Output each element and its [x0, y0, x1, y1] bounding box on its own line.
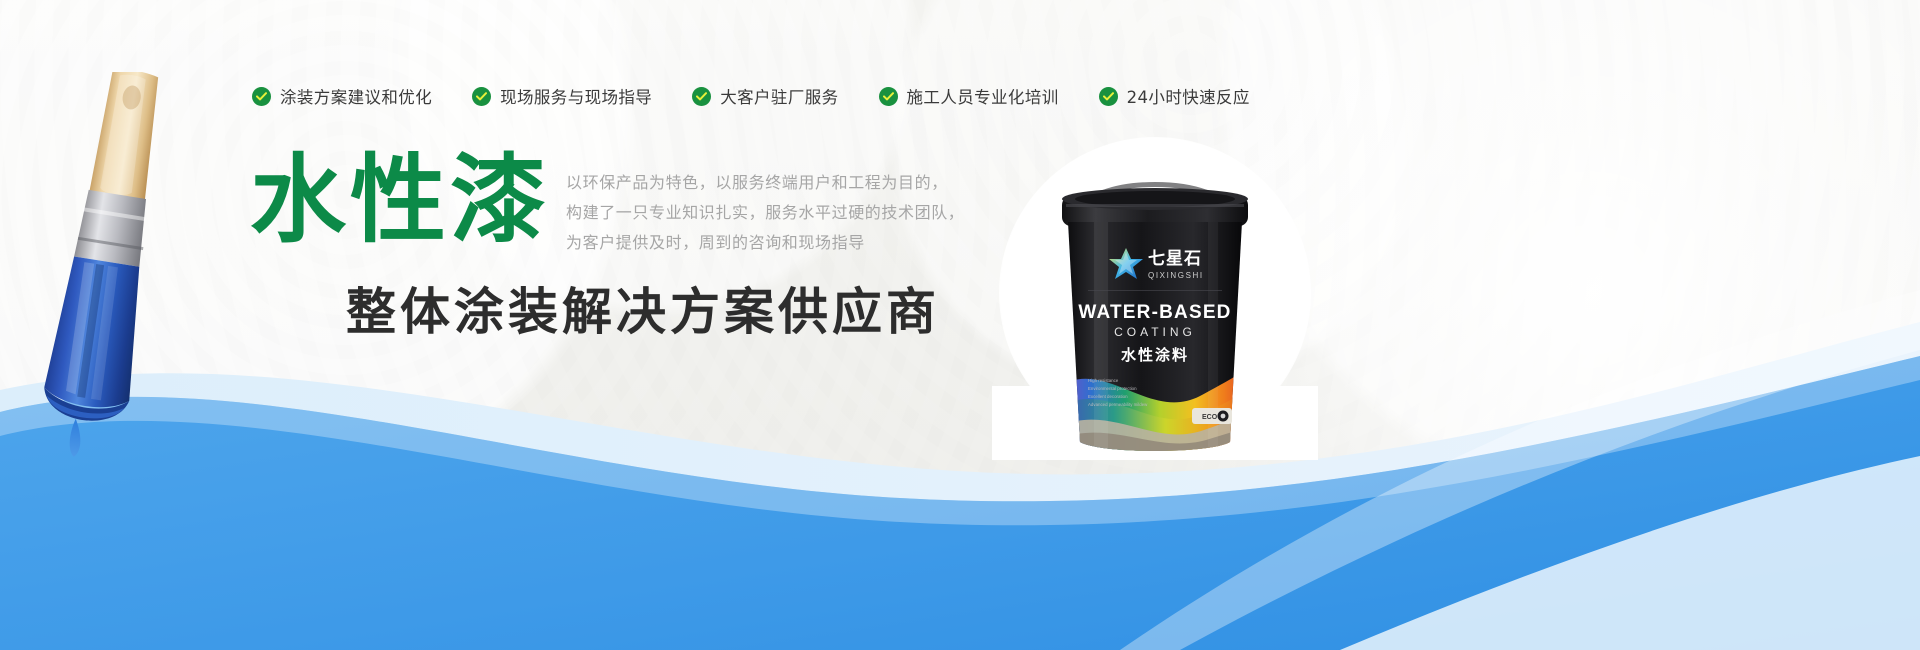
check-circle-icon: [692, 87, 711, 106]
eco-badge: ECO: [1192, 408, 1232, 424]
feature-label: 涂装方案建议和优化: [280, 84, 432, 108]
brand-en-text: QIXINGSHI: [1148, 271, 1204, 280]
svg-text:Excellent decoration: Excellent decoration: [1088, 394, 1128, 399]
check-circle-icon: [1099, 87, 1118, 106]
feature-item: 大客户驻厂服务: [692, 84, 838, 108]
product-title-en: WATER-BASED: [1078, 302, 1231, 323]
check-circle-icon: [879, 87, 898, 106]
paint-bucket-image: 七星石 QIXINGSHI WATER-BASED COATING 水性涂料 H…: [1040, 160, 1270, 460]
feature-label: 大客户驻厂服务: [720, 84, 838, 108]
feature-item: 24小时快速反应: [1099, 84, 1250, 108]
feature-label: 施工人员专业化培训: [907, 84, 1059, 108]
svg-text:Advanced permeability mildew: Advanced permeability mildew: [1088, 402, 1148, 407]
headline-block: 水性漆 以环保产品为特色，以服务终端用户和工程为目的， 构建了一只专业知识扎实，…: [250, 150, 964, 344]
paint-brush-illustration: [36, 72, 256, 492]
svg-text:High resistance: High resistance: [1088, 378, 1119, 383]
check-circle-icon: [252, 87, 271, 106]
lead-line: 构建了一只专业知识扎实，服务水平过硬的技术团队，: [566, 198, 964, 228]
banner-stage: 涂装方案建议和优化 现场服务与现场指导 大客户驻厂服务 施工人员专业化培训 24: [0, 0, 1920, 650]
subheadline: 整体涂装解决方案供应商: [346, 272, 964, 344]
feature-list: 涂装方案建议和优化 现场服务与现场指导 大客户驻厂服务 施工人员专业化培训 24: [252, 84, 1250, 108]
lead-line: 为客户提供及时，周到的咨询和现场指导: [566, 228, 964, 258]
feature-label: 现场服务与现场指导: [500, 84, 652, 108]
product-title-cn: 水性涂料: [1121, 346, 1189, 364]
feature-item: 施工人员专业化培训: [879, 84, 1059, 108]
lead-line: 以环保产品为特色，以服务终端用户和工程为目的，: [566, 168, 964, 198]
feature-item: 涂装方案建议和优化: [252, 84, 432, 108]
svg-text:ECO: ECO: [1202, 414, 1218, 421]
feature-label: 24小时快速反应: [1127, 84, 1250, 108]
svg-text:Environmental protection: Environmental protection: [1088, 386, 1137, 391]
lead-paragraph: 以环保产品为特色，以服务终端用户和工程为目的， 构建了一只专业知识扎实，服务水平…: [566, 150, 964, 258]
product-subtitle-en: COATING: [1114, 325, 1196, 339]
feature-item: 现场服务与现场指导: [472, 84, 652, 108]
product-showcase: 七星石 QIXINGSHI WATER-BASED COATING 水性涂料 H…: [1000, 138, 1310, 448]
check-circle-icon: [472, 87, 491, 106]
page-title: 水性漆: [250, 150, 550, 252]
brand-cn-text: 七星石: [1148, 249, 1202, 269]
